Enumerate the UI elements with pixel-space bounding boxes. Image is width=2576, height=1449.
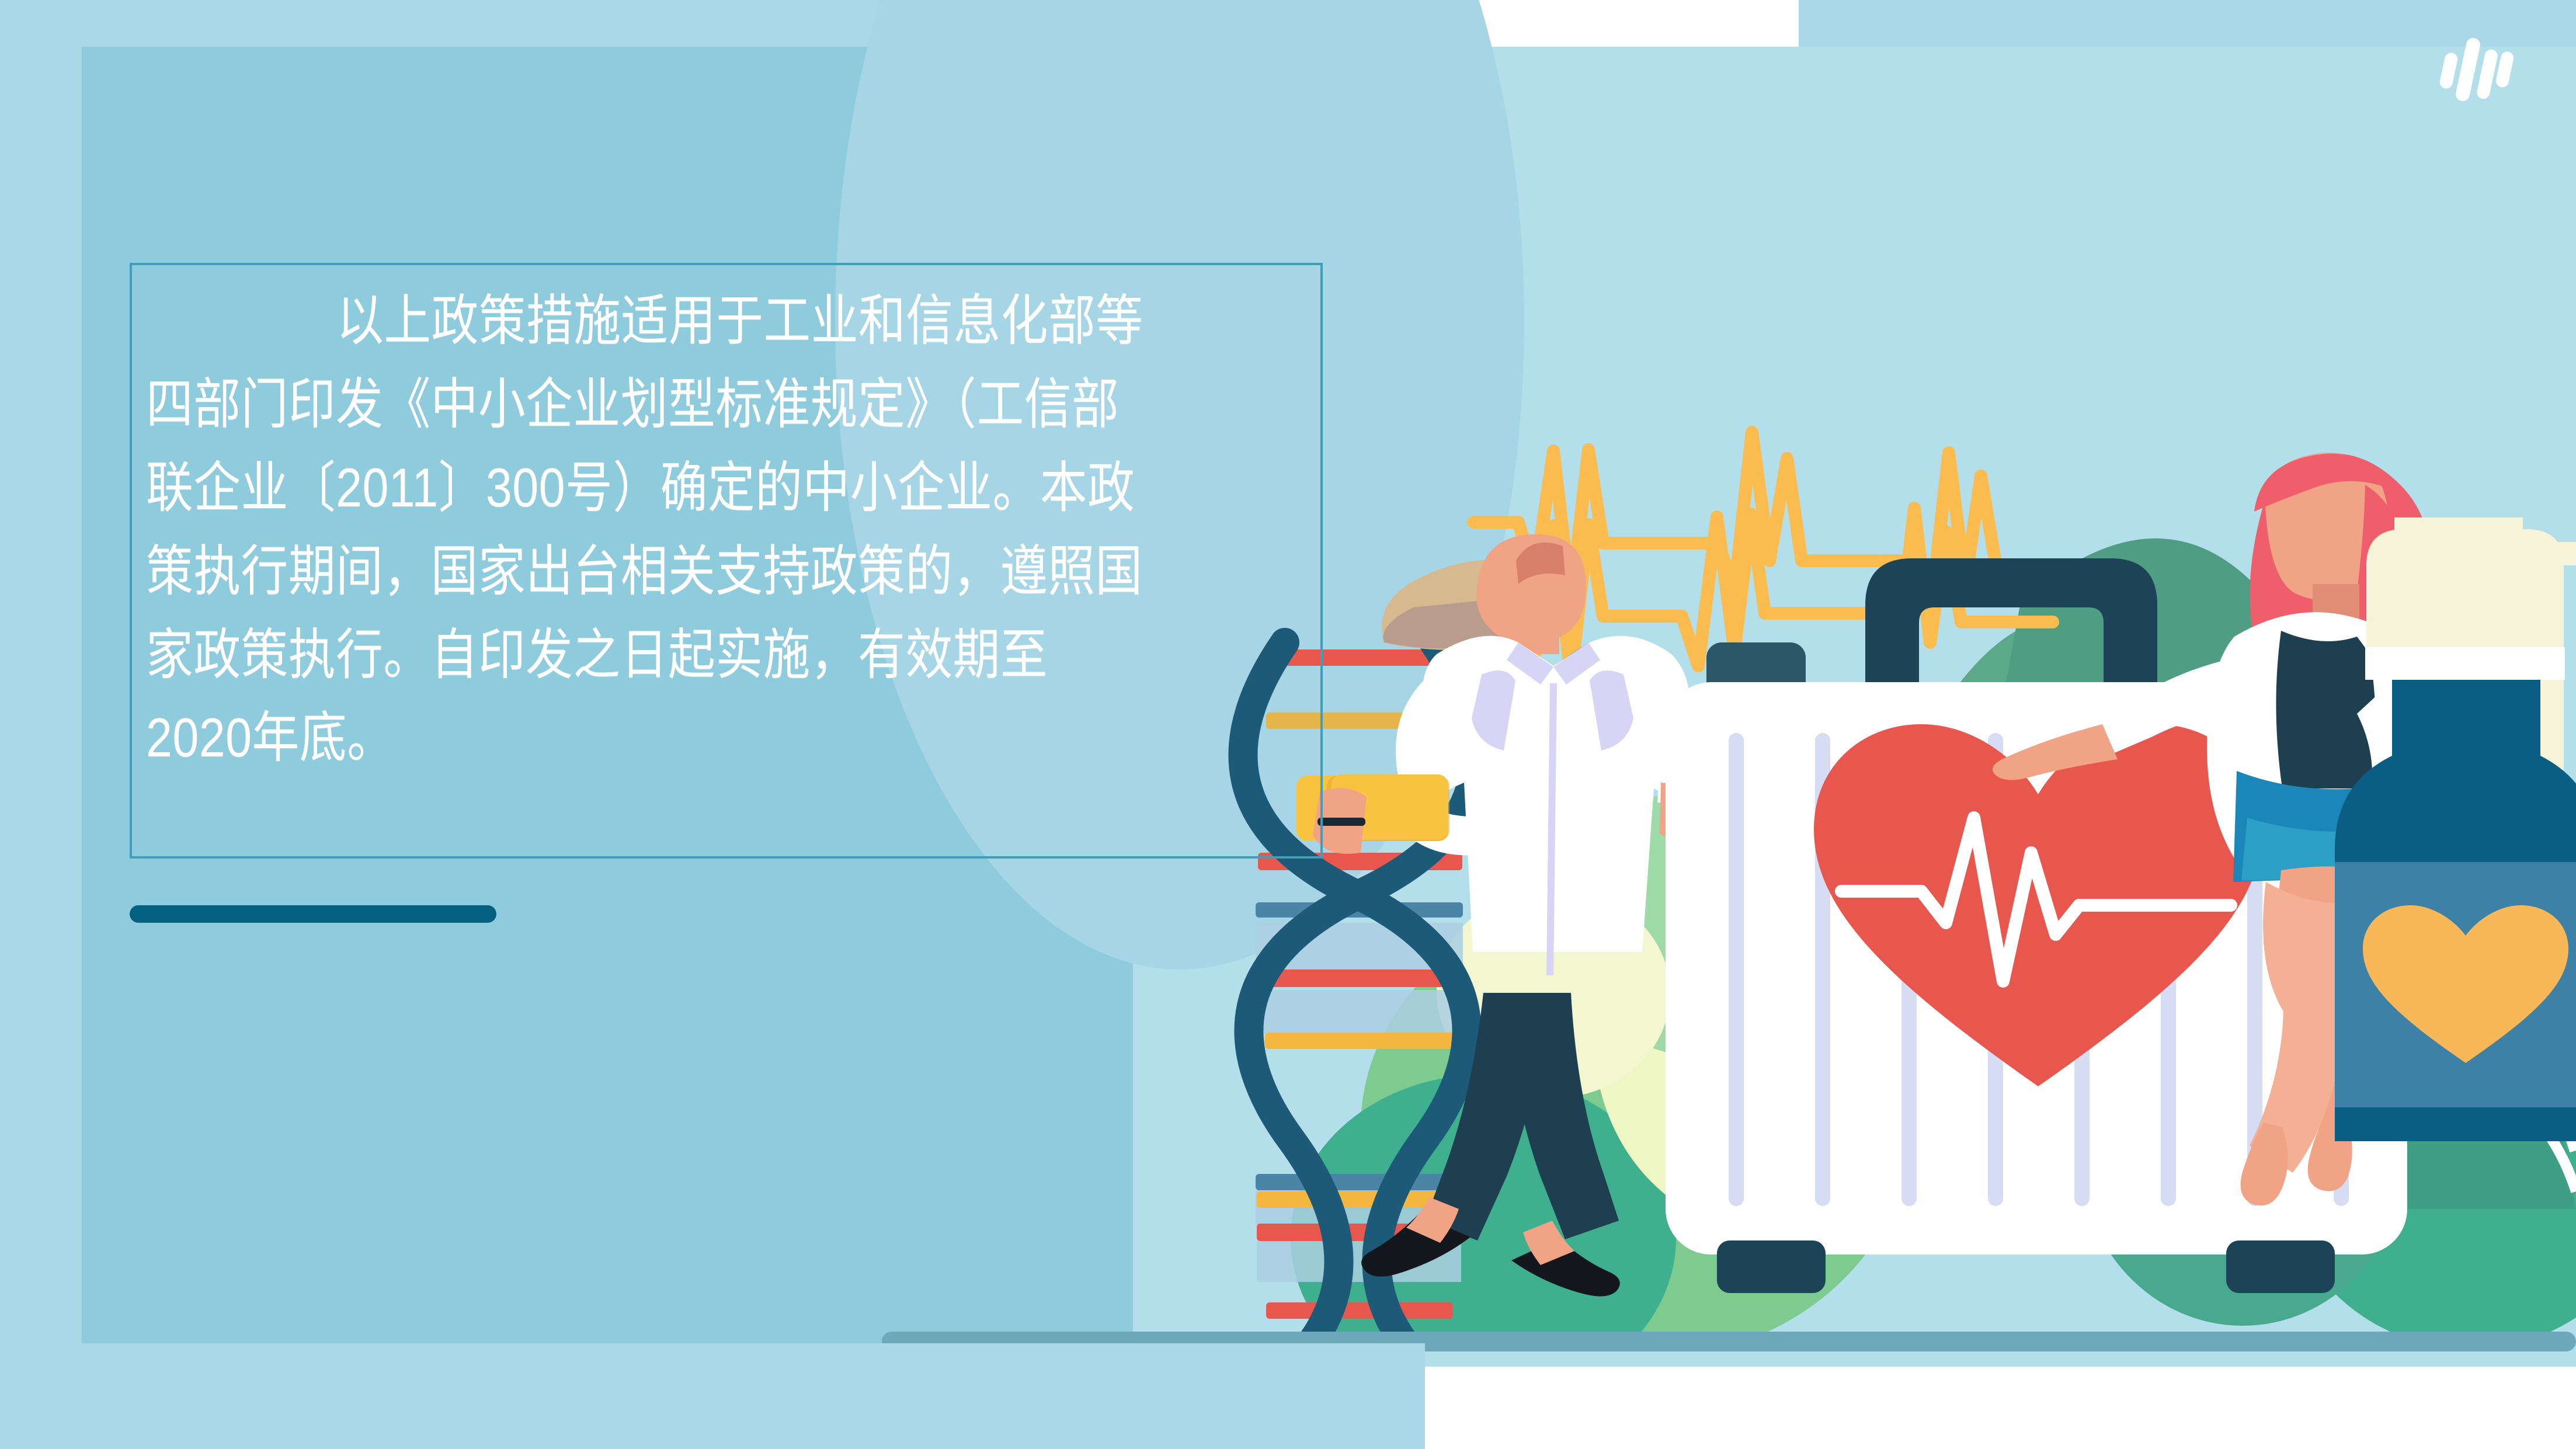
background-bottom-left-block (0, 1343, 1425, 1449)
divider-bar (130, 905, 496, 923)
logo-bar-3 (2476, 48, 2498, 100)
quote-text: 以上政策措施适用于工业和信息化部等四部门印发《中小企业划型标准规定》（工信部联企… (146, 279, 1150, 780)
waveform-logo[interactable] (2440, 35, 2516, 102)
medical-illustration (1110, 409, 2576, 1367)
logo-bar-4 (2495, 50, 2515, 88)
logo-bar-1 (2439, 51, 2459, 89)
slide-canvas: 以上政策措施适用于工业和信息化部等四部门印发《中小企业划型标准规定》（工信部联企… (0, 0, 2576, 1449)
background-left-gutter (0, 1308, 82, 1449)
